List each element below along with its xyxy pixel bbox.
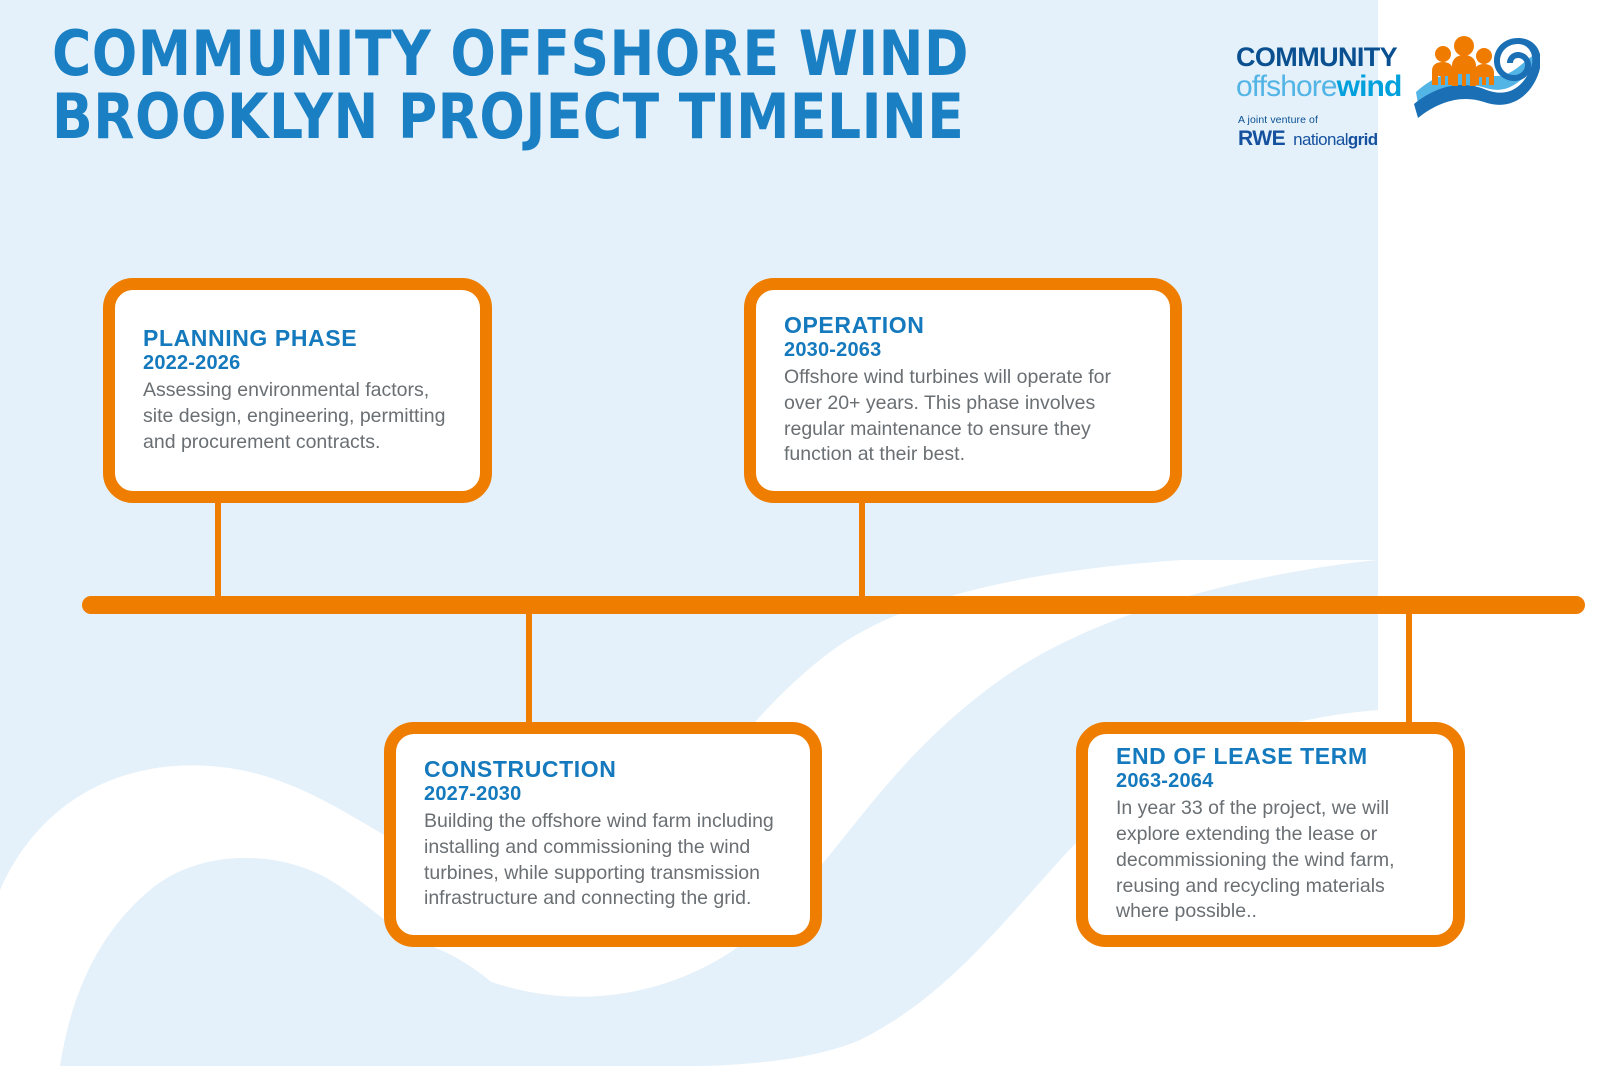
timeline-axis-bar	[82, 596, 1585, 614]
logo-wind-text: wind	[1337, 70, 1402, 103]
brand-logo: COMMUNITY offshorewind A joint venture o…	[1236, 30, 1536, 158]
logo-nationalgrid-light: national	[1293, 130, 1348, 149]
phase-description: Assessing environmental factors, site de…	[143, 378, 452, 456]
phase-description: Offshore wind turbines will operate for …	[784, 365, 1142, 469]
connector-operation	[859, 500, 865, 600]
logo-wordmark: COMMUNITY offshorewind	[1236, 44, 1416, 103]
phase-description: In year 33 of the project, we will explo…	[1116, 796, 1425, 926]
phase-title: CONSTRUCTION	[424, 757, 782, 783]
connector-planning	[215, 500, 221, 600]
connector-endoflease	[1406, 610, 1412, 724]
logo-nationalgrid-text: nationalgrid	[1293, 130, 1377, 150]
logo-offshore-text: offshore	[1236, 70, 1337, 103]
connector-construction	[526, 610, 532, 725]
logo-nationalgrid-bold: grid	[1348, 130, 1378, 149]
logo-community-text: COMMUNITY	[1236, 44, 1416, 71]
logo-partner-brands: RWE nationalgrid	[1238, 127, 1378, 151]
phase-card-content: END OF LEASE TERM 2063-2064 In year 33 o…	[1088, 734, 1453, 935]
phase-card-content: CONSTRUCTION 2027-2030 Building the offs…	[396, 734, 810, 935]
logo-joint-venture-label: A joint venture of	[1238, 114, 1318, 126]
phase-date-range: 2022-2026	[143, 352, 452, 374]
infographic-canvas: COMMUNITY OFFSHORE WIND BROOKLYN PROJECT…	[0, 0, 1600, 1066]
wave-people-icon	[1412, 30, 1540, 126]
phase-title: END OF LEASE TERM	[1116, 744, 1425, 770]
phase-card-planning[interactable]: PLANNING PHASE 2022-2026 Assessing envir…	[103, 278, 492, 503]
logo-offshore-wind-text: offshorewind	[1236, 72, 1416, 103]
phase-card-construction[interactable]: CONSTRUCTION 2027-2030 Building the offs…	[384, 722, 822, 947]
phase-date-range: 2063-2064	[1116, 770, 1425, 792]
phase-title: PLANNING PHASE	[143, 326, 452, 352]
phase-date-range: 2027-2030	[424, 783, 782, 805]
phase-description: Building the offshore wind farm includin…	[424, 809, 782, 913]
phase-card-operation[interactable]: OPERATION 2030-2063 Offshore wind turbin…	[744, 278, 1182, 503]
phase-card-content: OPERATION 2030-2063 Offshore wind turbin…	[756, 290, 1170, 491]
phase-card-content: PLANNING PHASE 2022-2026 Assessing envir…	[115, 290, 480, 491]
phase-card-end-of-lease-term[interactable]: END OF LEASE TERM 2063-2064 In year 33 o…	[1076, 722, 1465, 947]
phase-title: OPERATION	[784, 313, 1142, 339]
logo-rwe-text: RWE	[1238, 127, 1285, 151]
page-title: COMMUNITY OFFSHORE WIND BROOKLYN PROJECT…	[52, 22, 1166, 148]
phase-date-range: 2030-2063	[784, 339, 1142, 361]
